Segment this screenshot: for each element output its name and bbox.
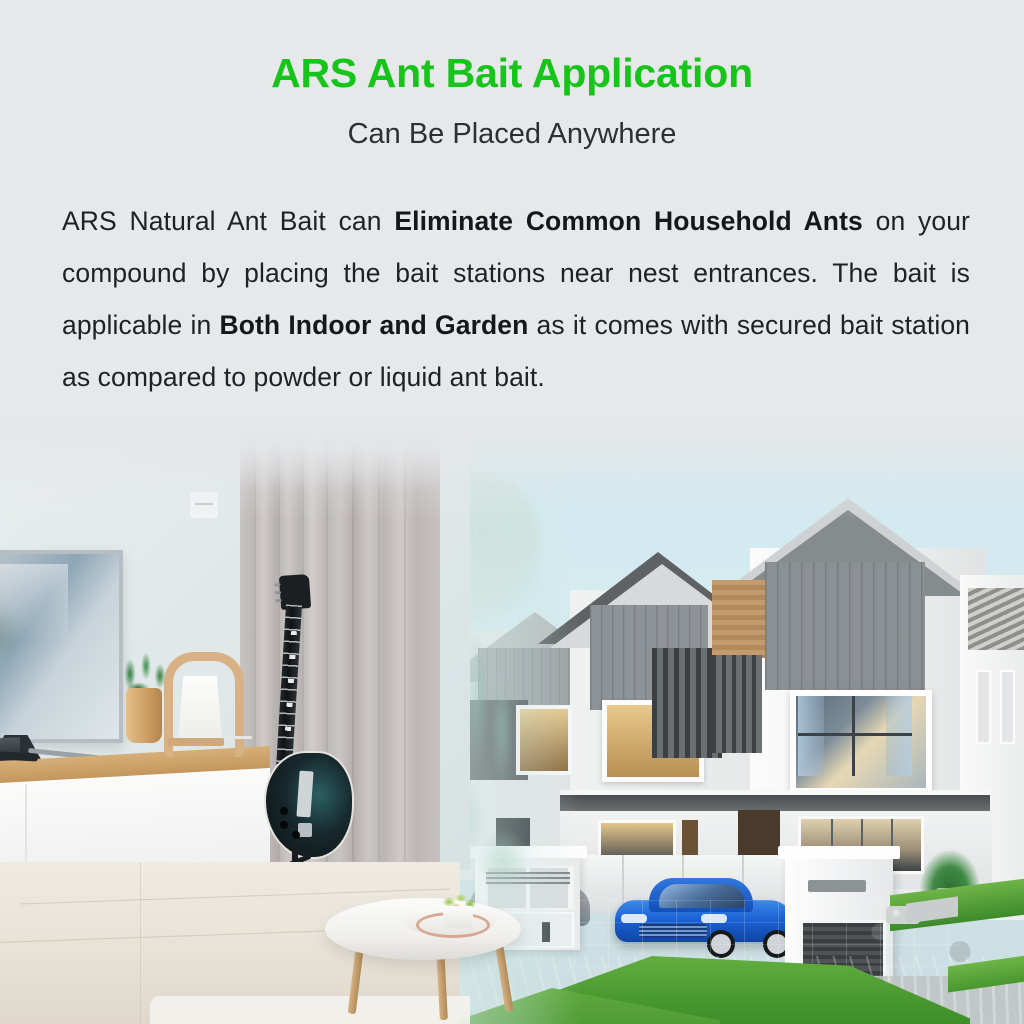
body-bold-2: Both Indoor and Garden: [219, 310, 528, 340]
page-subtitle: Can Be Placed Anywhere: [0, 118, 1024, 151]
succulent-pot: [443, 906, 473, 928]
text-block: ARS Ant Bait Application Can Be Placed A…: [0, 0, 1024, 470]
table-leg-right: [494, 940, 513, 1012]
body-segment-1: ARS Natural Ant Bait can: [62, 206, 394, 236]
body-paragraph: ARS Natural Ant Bait can Eliminate Commo…: [62, 195, 970, 403]
promo-graphic: ARS Ant Bait Application Can Be Placed A…: [0, 0, 1024, 1024]
body-bold-1: Eliminate Common Household Ants: [394, 206, 863, 236]
page-title: ARS Ant Bait Application: [0, 50, 1024, 97]
